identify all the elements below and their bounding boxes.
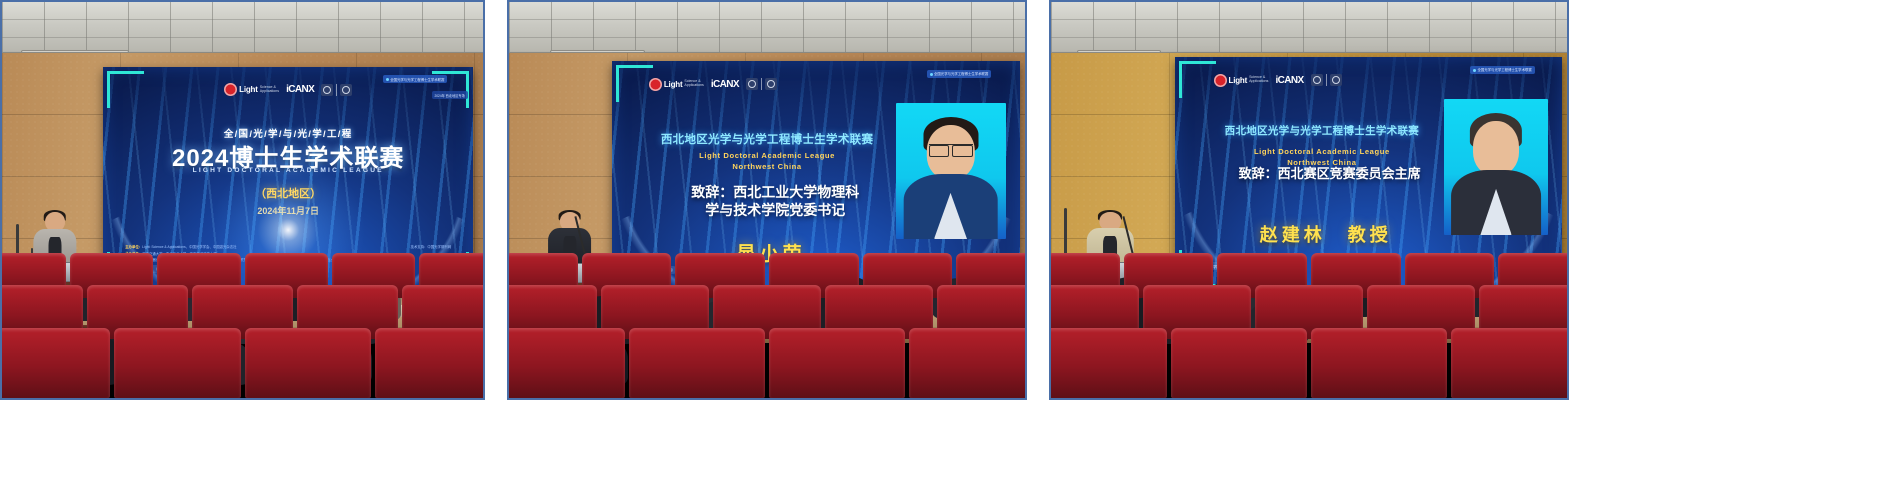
slide-title-english: LIGHT DOCTORAL ACADEMIC LEAGUE	[103, 167, 473, 174]
audience-seating	[509, 263, 1025, 398]
photo-panel-1: 全国光学与光学工程博士生学术联赛 2024年 西北地区专场 Light Scie…	[0, 0, 485, 400]
top-badge-text: 全国光学与光学工程博士生学术联赛	[390, 78, 444, 82]
slide-role: 致辞：西北赛区竞赛委员会主席	[1183, 165, 1477, 182]
light-journal-logo: Light Science &Applications	[649, 78, 704, 91]
light-seal-icon	[1214, 74, 1227, 87]
ceiling	[2, 2, 483, 53]
footer-right: 技术支持：中国光学期刊网	[410, 244, 451, 250]
light-seal-icon	[649, 78, 662, 91]
seat	[245, 328, 372, 398]
seat-row-1	[1049, 328, 1569, 398]
icanx-logo: iCANX	[1275, 75, 1303, 86]
ceiling	[509, 2, 1025, 53]
three-panel-photo-strip: 全国光学与光学工程博士生学术联赛 2024年 西北地区专场 Light Scie…	[0, 0, 1900, 477]
seat	[0, 328, 110, 398]
seat-row-1	[0, 328, 485, 398]
slide-logo-bar: Light Science &Applications iCANX	[103, 83, 473, 96]
glasses-icon	[929, 144, 973, 154]
seat	[629, 328, 765, 398]
seat	[909, 328, 1027, 398]
light-seal-icon	[224, 83, 237, 96]
icanx-logo: iCANX	[286, 84, 314, 95]
university-crest-icon	[321, 84, 352, 96]
photo-panel-3: 全国光学与光学工程博士生学术联赛 Light Science &Applicat…	[1049, 0, 1569, 400]
slide-title: 西北地区光学与光学工程博士生学术联赛	[620, 131, 913, 147]
seat	[769, 328, 905, 398]
seat	[1451, 328, 1569, 398]
slide-date: 2024年11月7日	[103, 204, 473, 217]
university-crest-icon	[746, 78, 777, 90]
slide-speaker-name: 赵建林 教授	[1183, 221, 1469, 247]
slide-role: 致辞：西北工业大学物理科 学与技术学院党委书记	[620, 183, 930, 220]
seat	[1171, 328, 1307, 398]
slide-top-badge: 全国光学与光学工程博士生学术联赛	[1470, 66, 1535, 74]
seat	[1049, 328, 1167, 398]
audience-seating	[2, 263, 483, 398]
light-journal-logo: Light Science &Applications	[1214, 74, 1269, 87]
university-crest-icon	[1311, 74, 1342, 86]
seat	[507, 328, 625, 398]
top-badge-text: 全国光学与光学工程博士生学术联赛	[934, 72, 988, 76]
slide-title-english: Light Doctoral Academic League Northwest…	[620, 151, 913, 172]
slide-logo-bar: Light Science &Applications iCANX	[612, 78, 1020, 91]
light-journal-logo: Light Science &Applications	[224, 83, 279, 96]
slide-top-badge: 全国光学与光学工程博士生学术联赛	[927, 70, 992, 78]
seat-row-1	[507, 328, 1027, 398]
slide-title: 西北地区光学与光学工程博士生学术联赛	[1183, 123, 1462, 138]
seat	[375, 328, 485, 398]
seat	[114, 328, 241, 398]
photo-panel-2: 全国光学与光学工程博士生学术联赛 Light Science &Applicat…	[507, 0, 1027, 400]
speaker-portrait-photo	[1444, 99, 1548, 235]
ceiling	[1051, 2, 1567, 53]
seat	[1311, 328, 1447, 398]
slide-logo-bar: Light Science &Applications iCANX	[1175, 74, 1562, 87]
icanx-logo: iCANX	[711, 79, 739, 90]
audience-seating	[1051, 263, 1567, 398]
top-badge-text: 全国光学与光学工程博士生学术联赛	[1478, 68, 1532, 72]
speaker-portrait-photo	[896, 103, 1006, 239]
slide-region: （西北地区）	[103, 185, 473, 201]
slide-top-badge: 全国光学与光学工程博士生学术联赛	[383, 75, 448, 83]
